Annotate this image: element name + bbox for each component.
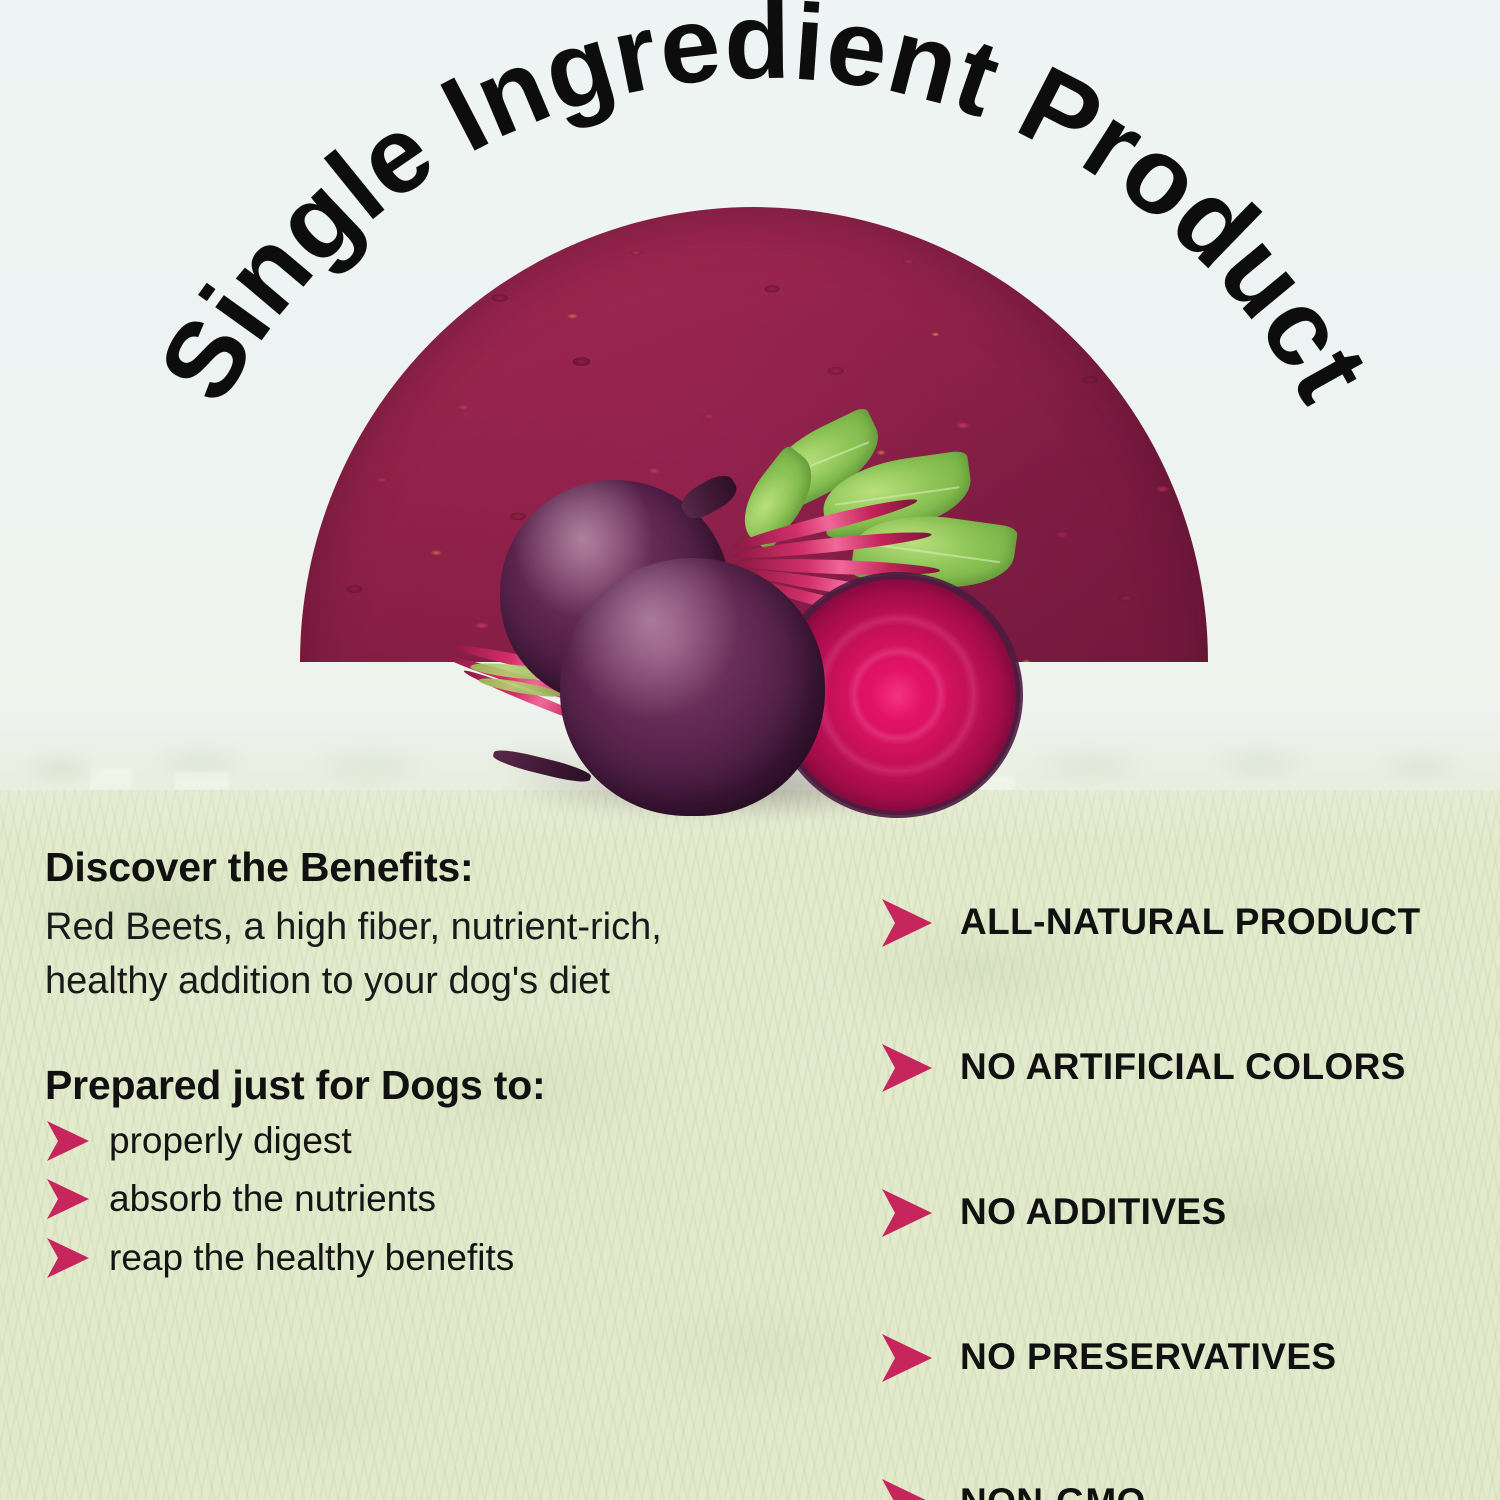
feature-label: NO ADDITIVES [960, 1192, 1227, 1233]
beet-flesh-rings [795, 594, 1001, 796]
list-item: properly digest [45, 1119, 785, 1163]
product-infographic: Single Ingredient Product Discover the B… [0, 0, 1500, 1500]
list-item: NO ADDITIVES [880, 1140, 1480, 1285]
beet-crown-back [676, 470, 741, 525]
feature-label: NON-GMO [960, 1482, 1146, 1500]
list-item: NON-GMO [880, 1430, 1480, 1500]
prepared-heading: Prepared just for Dogs to: [45, 1063, 785, 1109]
column-spacer [45, 1009, 785, 1063]
list-item-label: properly digest [109, 1119, 352, 1163]
arrow-bullet-icon [880, 1332, 934, 1384]
list-item-label: absorb the nutrients [109, 1177, 436, 1221]
arrow-bullet-icon [880, 1187, 934, 1239]
arrow-bullet-icon [880, 1042, 934, 1094]
beets-photo-composite [430, 420, 1070, 840]
arrow-bullet-icon [880, 1477, 934, 1500]
whole-beet-front [560, 558, 825, 816]
list-item: reap the healthy benefits [45, 1236, 785, 1280]
prepared-bullet-list: properly digest absorb the nutrients rea… [45, 1119, 785, 1280]
arrow-bullet-icon [45, 1236, 91, 1280]
arrow-bullet-icon [45, 1177, 91, 1221]
list-item-label: reap the healthy benefits [109, 1236, 514, 1280]
left-column: Discover the Benefits: Red Beets, a high… [45, 845, 785, 1294]
right-column: ALL-NATURAL PRODUCT NO ARTIFICIAL COLORS… [880, 850, 1480, 1500]
list-item: absorb the nutrients [45, 1177, 785, 1221]
list-item: ALL-NATURAL PRODUCT [880, 850, 1480, 995]
arrow-bullet-icon [880, 897, 934, 949]
product-feature-list: ALL-NATURAL PRODUCT NO ARTIFICIAL COLORS… [880, 850, 1480, 1500]
list-item: NO PRESERVATIVES [880, 1285, 1480, 1430]
feature-label: NO ARTIFICIAL COLORS [960, 1047, 1406, 1088]
benefits-section: Discover the Benefits: Red Beets, a high… [0, 820, 1500, 1500]
feature-label: NO PRESERVATIVES [960, 1337, 1337, 1378]
list-item: NO ARTIFICIAL COLORS [880, 995, 1480, 1140]
feature-label: ALL-NATURAL PRODUCT [960, 902, 1420, 943]
benefits-body-text: Red Beets, a high fiber, nutrient-rich, … [45, 901, 785, 1009]
leaf-vein [867, 543, 1000, 564]
benefits-heading: Discover the Benefits: [45, 845, 785, 891]
arrow-bullet-icon [45, 1119, 91, 1163]
